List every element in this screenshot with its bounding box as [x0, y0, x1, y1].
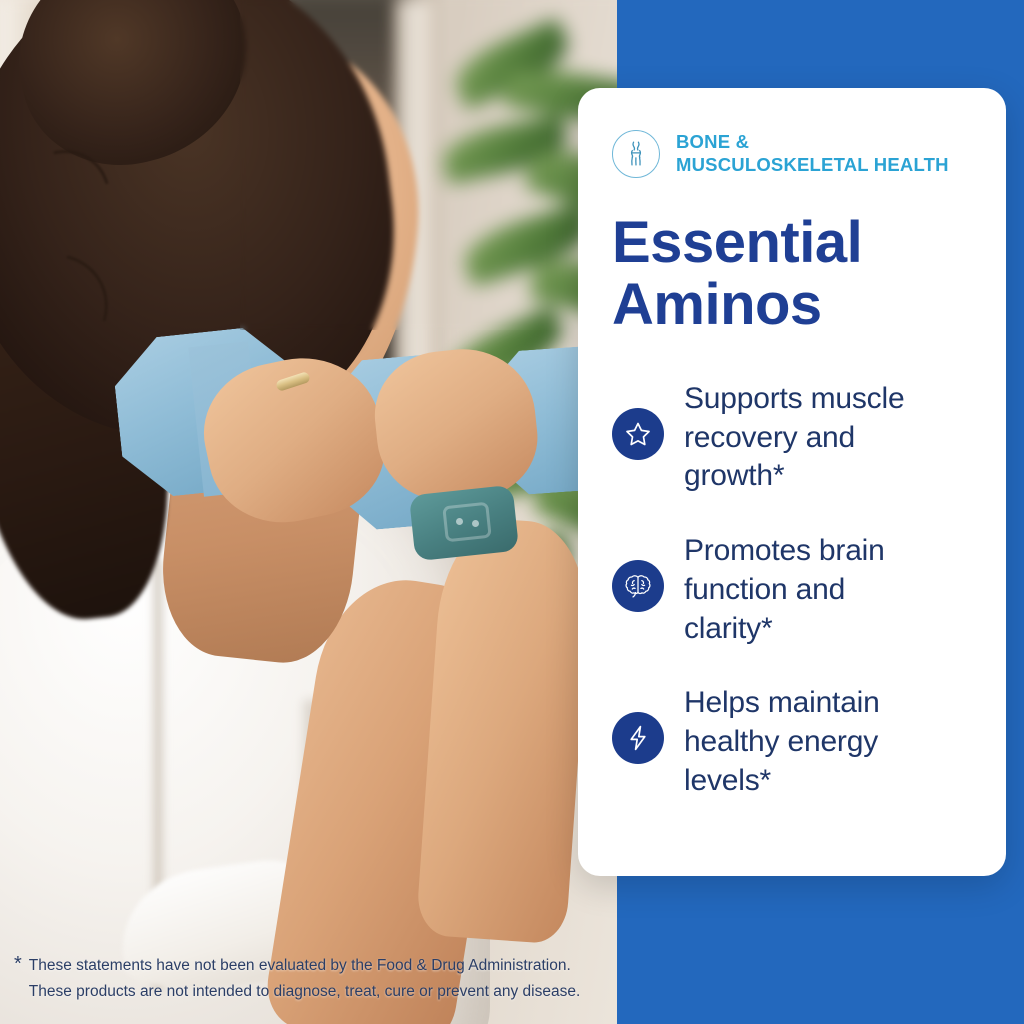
- benefit-item: Helps maintain healthy energy levels*: [612, 684, 972, 800]
- star-icon: [612, 408, 664, 460]
- page-title-line2: Aminos: [612, 272, 822, 337]
- photo-watch-buckle: [442, 502, 492, 543]
- benefit-line3: growth*: [684, 459, 784, 492]
- disclaimer-line1: These statements have not been evaluated…: [29, 957, 571, 974]
- category-label-line1: BONE &: [676, 131, 749, 152]
- benefit-line2: function and: [684, 573, 845, 606]
- page-title: Essential Aminos: [612, 212, 972, 336]
- promo-graphic: BONE & MUSCULOSKELETAL HEALTH Essential …: [0, 0, 1024, 1024]
- benefit-line1: Supports muscle: [684, 382, 904, 415]
- category-label-line2: MUSCULOSKELETAL HEALTH: [676, 154, 949, 175]
- page-title-line1: Essential: [612, 210, 862, 275]
- benefit-text: Helps maintain healthy energy levels*: [684, 684, 880, 800]
- benefit-item: Supports muscle recovery and growth*: [612, 380, 972, 496]
- disclaimer: * These statements have not been evaluat…: [14, 953, 614, 1006]
- benefit-line2: healthy energy: [684, 725, 878, 758]
- photo-watch-dot: [456, 518, 463, 525]
- bone-joint-icon: [612, 130, 660, 178]
- benefit-line3: levels*: [684, 764, 771, 797]
- benefit-line3: clarity*: [684, 612, 772, 645]
- disclaimer-text: These statements have not been evaluated…: [29, 953, 580, 1006]
- lightning-bolt-icon: [612, 712, 664, 764]
- disclaimer-line2: These products are not intended to diagn…: [29, 983, 580, 1000]
- category-label: BONE & MUSCULOSKELETAL HEALTH: [676, 131, 949, 177]
- benefit-line1: Helps maintain: [684, 686, 880, 719]
- benefit-item: Promotes brain function and clarity*: [612, 532, 972, 648]
- benefits-list: Supports muscle recovery and growth*: [612, 380, 972, 800]
- benefit-text: Promotes brain function and clarity*: [684, 532, 885, 648]
- category-header: BONE & MUSCULOSKELETAL HEALTH: [612, 130, 972, 178]
- benefit-text: Supports muscle recovery and growth*: [684, 380, 904, 496]
- brain-icon: [612, 560, 664, 612]
- info-card: BONE & MUSCULOSKELETAL HEALTH Essential …: [578, 88, 1006, 876]
- benefit-line1: Promotes brain: [684, 534, 885, 567]
- photo-watch-dot: [472, 520, 479, 527]
- benefit-line2: recovery and: [684, 421, 855, 454]
- disclaimer-asterisk: *: [14, 953, 22, 975]
